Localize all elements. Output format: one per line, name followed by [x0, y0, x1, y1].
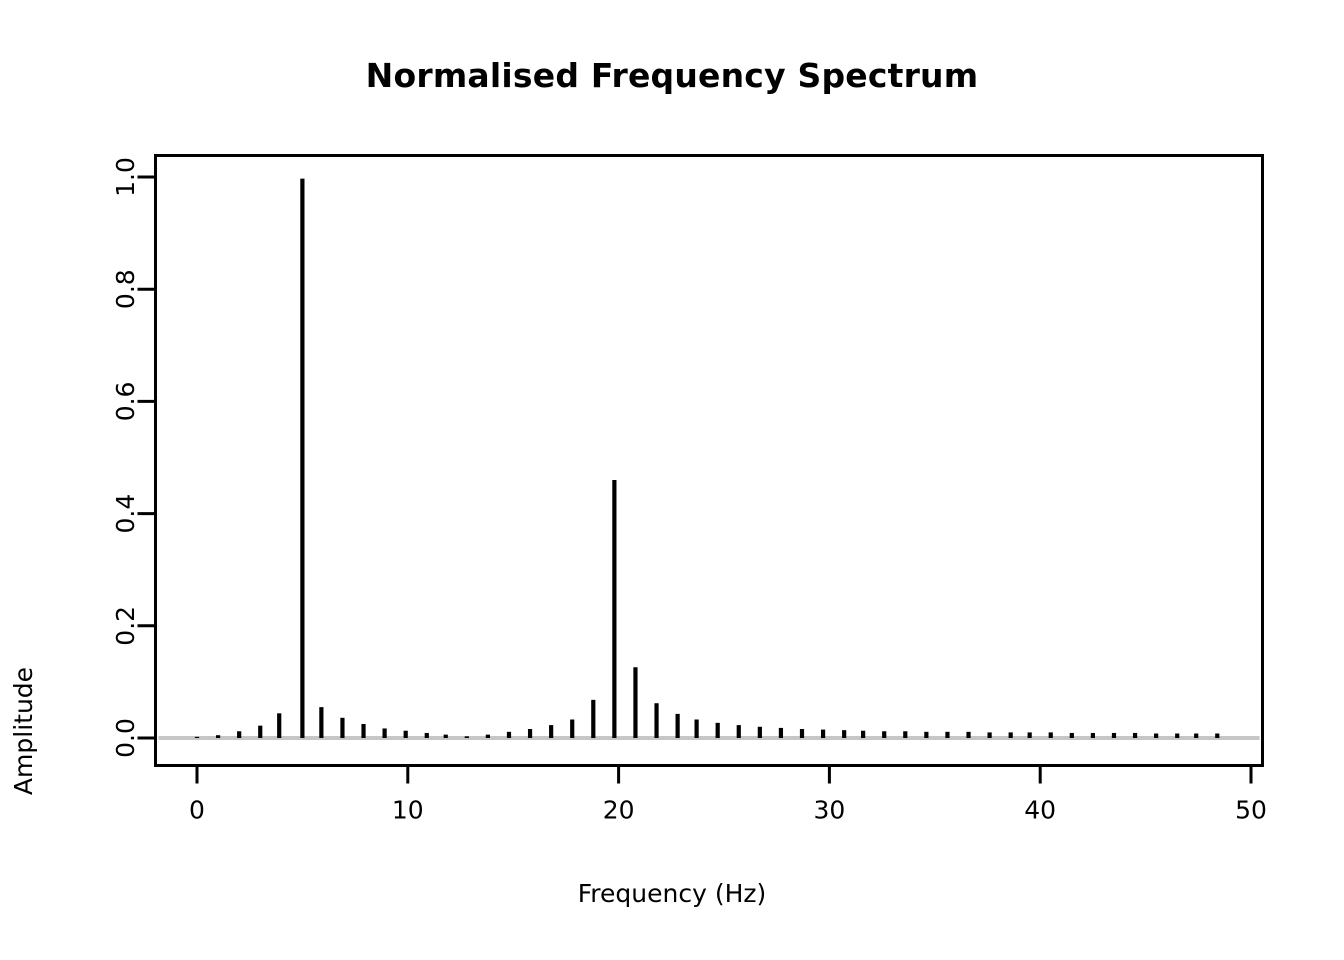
plot-box	[156, 156, 1263, 766]
y-tick-label: 1.0	[111, 157, 140, 197]
y-tick-label: 0.6	[111, 382, 140, 422]
y-tick-label: 0.4	[111, 494, 140, 534]
x-tick-label: 30	[813, 796, 845, 825]
x-tick-label: 10	[392, 796, 424, 825]
x-tick-label: 0	[189, 796, 205, 825]
frequency-spectrum-figure: Normalised Frequency Spectrum Frequency …	[0, 0, 1344, 960]
spike-series	[197, 179, 1217, 738]
plot-area: 010203040500.00.20.40.60.81.0	[0, 0, 1344, 960]
x-tick-label: 40	[1024, 796, 1056, 825]
x-tick-label: 20	[603, 796, 635, 825]
y-tick-label: 0.8	[111, 269, 140, 309]
x-tick-label: 50	[1235, 796, 1267, 825]
y-tick-label: 0.2	[111, 606, 140, 646]
y-tick-label: 0.0	[111, 718, 140, 758]
